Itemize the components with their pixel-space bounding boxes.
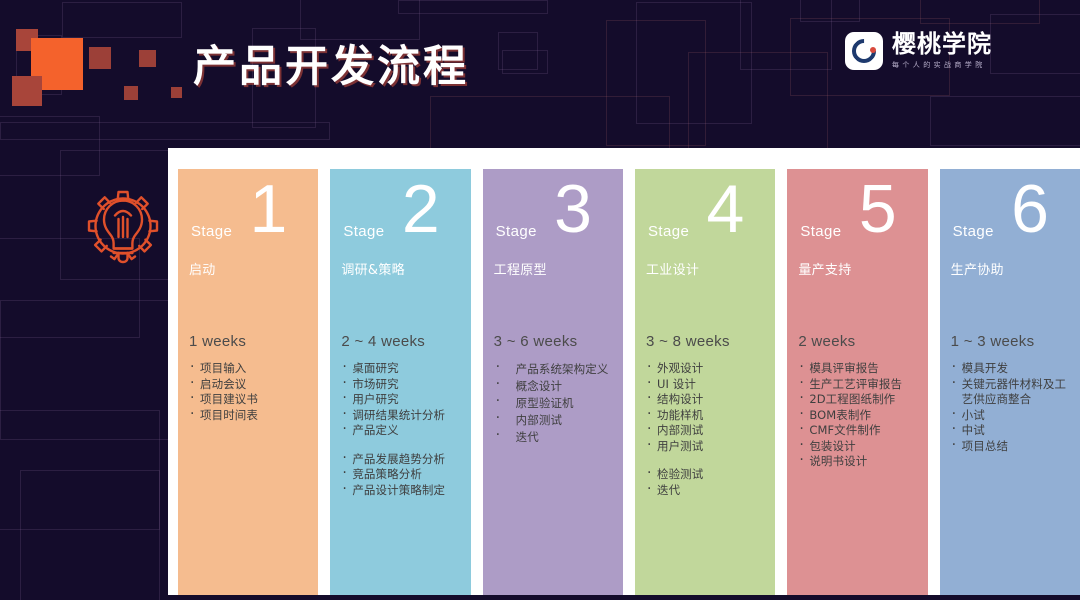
stage-name: 量产支持: [798, 259, 916, 278]
stage-duration: 3 ~ 6 weeks: [494, 333, 612, 350]
deco-outline-rect: [502, 50, 548, 74]
stage-task-item: 功能样机: [646, 408, 764, 424]
stage-task-item: 启动会议: [189, 377, 307, 393]
deco-outline-rect: [20, 470, 160, 600]
stage-task-group: 桌面研究市场研究用户研究调研结果统计分析产品定义: [341, 361, 459, 439]
stage-task-item: 用户研究: [341, 392, 459, 408]
stage-task-item: 检验测试: [646, 467, 764, 483]
stage-label: Stage: [953, 223, 994, 240]
stage-task-item: 竞品策略分析: [341, 467, 459, 483]
stage-label: Stage: [800, 223, 841, 240]
logo-subtitle: 每个人的实战商学院: [892, 60, 992, 70]
stage-task-item: 小试: [951, 408, 1069, 424]
stage-task-item: 模具评审报告: [798, 361, 916, 377]
stage-header: Stage1: [189, 183, 307, 253]
stage-column-2[interactable]: Stage2调研&策略2 ~ 4 weeks桌面研究市场研究用户研究调研结果统计…: [330, 169, 470, 595]
stage-columns: Stage1启动1 weeks项目输入启动会议项目建议书项目时间表Stage2调…: [178, 169, 1080, 595]
stage-task-group: 项目输入启动会议项目建议书项目时间表: [189, 361, 307, 423]
stage-task-item: 项目时间表: [189, 408, 307, 424]
deco-square: [124, 86, 138, 100]
stage-column-5[interactable]: Stage5量产支持2 weeks模具评审报告生产工艺评审报告2D工程图纸制作B…: [787, 169, 927, 595]
stage-task-group: 模具评审报告生产工艺评审报告2D工程图纸制作BOM表制作CMF文件制作包装设计说…: [798, 361, 916, 470]
process-panel: Stage1启动1 weeks项目输入启动会议项目建议书项目时间表Stage2调…: [168, 148, 1080, 595]
slide-canvas: 产品开发流程 樱桃学院 每个人的实战商学院: [0, 0, 1080, 600]
stage-number: 2: [402, 175, 440, 243]
stage-label: Stage: [648, 223, 689, 240]
stage-task-item: 市场研究: [341, 377, 459, 393]
stage-header: Stage4: [646, 183, 764, 253]
stage-column-4[interactable]: Stage4工业设计3 ~ 8 weeks外观设计UI 设计结构设计功能样机内部…: [635, 169, 775, 595]
brand-logo: 樱桃学院 每个人的实战商学院: [845, 32, 992, 70]
stage-task-item: CMF文件制作: [798, 423, 916, 439]
stage-task-item: 迭代: [646, 483, 764, 499]
stage-duration: 1 ~ 3 weeks: [951, 333, 1069, 350]
stage-task-item: UI 设计: [646, 377, 764, 393]
stage-task-item: 关键元器件材料及工艺供应商整合: [951, 377, 1069, 408]
stage-task-item: BOM表制作: [798, 408, 916, 424]
stage-task-item: 产品发展趋势分析: [341, 452, 459, 468]
stage-name: 工业设计: [646, 259, 764, 278]
stage-duration: 2 ~ 4 weeks: [341, 333, 459, 350]
stage-column-1[interactable]: Stage1启动1 weeks项目输入启动会议项目建议书项目时间表: [178, 169, 318, 595]
stage-task-list: 项目输入启动会议项目建议书项目时间表: [189, 361, 307, 423]
deco-outline-rect: [800, 0, 860, 22]
deco-square: [89, 47, 111, 69]
stage-duration: 3 ~ 8 weeks: [646, 333, 764, 350]
stage-task-item: 调研结果统计分析: [341, 408, 459, 424]
deco-square: [171, 87, 182, 98]
stage-task-item: 原型验证机: [494, 395, 612, 412]
stage-column-3[interactable]: Stage3工程原型3 ~ 6 weeks产品系统架构定义概念设计原型验证机内部…: [483, 169, 623, 595]
stage-task-group: 产品发展趋势分析竞品策略分析产品设计策略制定: [341, 452, 459, 499]
stage-number: 3: [554, 175, 592, 243]
stage-task-item: 概念设计: [494, 378, 612, 395]
stage-task-item: 模具开发: [951, 361, 1069, 377]
stage-task-item: 项目总结: [951, 439, 1069, 455]
stage-name: 工程原型: [494, 259, 612, 278]
stage-task-item: 内部测试: [646, 423, 764, 439]
deco-outline-rect: [398, 0, 548, 14]
deco-outline-rect: [990, 14, 1080, 74]
stage-task-item: 项目输入: [189, 361, 307, 377]
stage-name: 启动: [189, 259, 307, 278]
deco-square: [139, 50, 156, 67]
stage-header: Stage5: [798, 183, 916, 253]
stage-task-item: 结构设计: [646, 392, 764, 408]
stage-label: Stage: [343, 223, 384, 240]
stage-task-list: 外观设计UI 设计结构设计功能样机内部测试用户测试检验测试迭代: [646, 361, 764, 498]
stage-task-group: 产品系统架构定义概念设计原型验证机内部测试迭代: [494, 361, 612, 446]
stage-header: Stage2: [341, 183, 459, 253]
stage-task-group: 检验测试迭代: [646, 467, 764, 498]
stage-task-list: 产品系统架构定义概念设计原型验证机内部测试迭代: [494, 361, 612, 446]
stage-task-item: 说明书设计: [798, 454, 916, 470]
stage-number: 6: [1011, 175, 1049, 243]
stage-task-item: 迭代: [494, 429, 612, 446]
stage-task-item: 用户测试: [646, 439, 764, 455]
stage-task-item: 产品定义: [341, 423, 459, 439]
lightbulb-gear-icon: [80, 183, 166, 274]
stage-name: 调研&策略: [341, 259, 459, 278]
stage-task-item: 中试: [951, 423, 1069, 439]
stage-task-item: 2D工程图纸制作: [798, 392, 916, 408]
stage-column-6[interactable]: Stage6生产协助1 ~ 3 weeks模具开发关键元器件材料及工艺供应商整合…: [940, 169, 1080, 595]
stage-number: 4: [706, 175, 744, 243]
stage-task-group: 外观设计UI 设计结构设计功能样机内部测试用户测试: [646, 361, 764, 454]
stage-task-item: 内部测试: [494, 412, 612, 429]
stage-label: Stage: [191, 223, 232, 240]
stage-task-item: 包装设计: [798, 439, 916, 455]
deco-outline-rect: [930, 96, 1080, 146]
stage-header: Stage6: [951, 183, 1069, 253]
stage-task-item: 产品设计策略制定: [341, 483, 459, 499]
stage-task-item: 产品系统架构定义: [494, 361, 612, 378]
stage-task-item: 生产工艺评审报告: [798, 377, 916, 393]
cherry-academy-logo-icon: [845, 32, 883, 70]
deco-outline-rect: [62, 2, 182, 38]
stage-task-list: 模具开发关键元器件材料及工艺供应商整合小试中试项目总结: [951, 361, 1069, 454]
stage-number: 5: [859, 175, 897, 243]
stage-name: 生产协助: [951, 259, 1069, 278]
stage-number: 1: [250, 175, 288, 243]
stage-task-item: 桌面研究: [341, 361, 459, 377]
stage-task-list: 桌面研究市场研究用户研究调研结果统计分析产品定义产品发展趋势分析竞品策略分析产品…: [341, 361, 459, 498]
stage-task-list: 模具评审报告生产工艺评审报告2D工程图纸制作BOM表制作CMF文件制作包装设计说…: [798, 361, 916, 470]
stage-header: Stage3: [494, 183, 612, 253]
stage-task-item: 外观设计: [646, 361, 764, 377]
stage-duration: 2 weeks: [798, 333, 916, 350]
logo-name: 樱桃学院: [892, 32, 992, 57]
stage-duration: 1 weeks: [189, 333, 307, 350]
stage-task-group: 模具开发关键元器件材料及工艺供应商整合小试中试项目总结: [951, 361, 1069, 454]
deco-square: [12, 76, 42, 106]
page-title: 产品开发流程: [193, 32, 469, 94]
stage-label: Stage: [496, 223, 537, 240]
stage-task-item: 项目建议书: [189, 392, 307, 408]
